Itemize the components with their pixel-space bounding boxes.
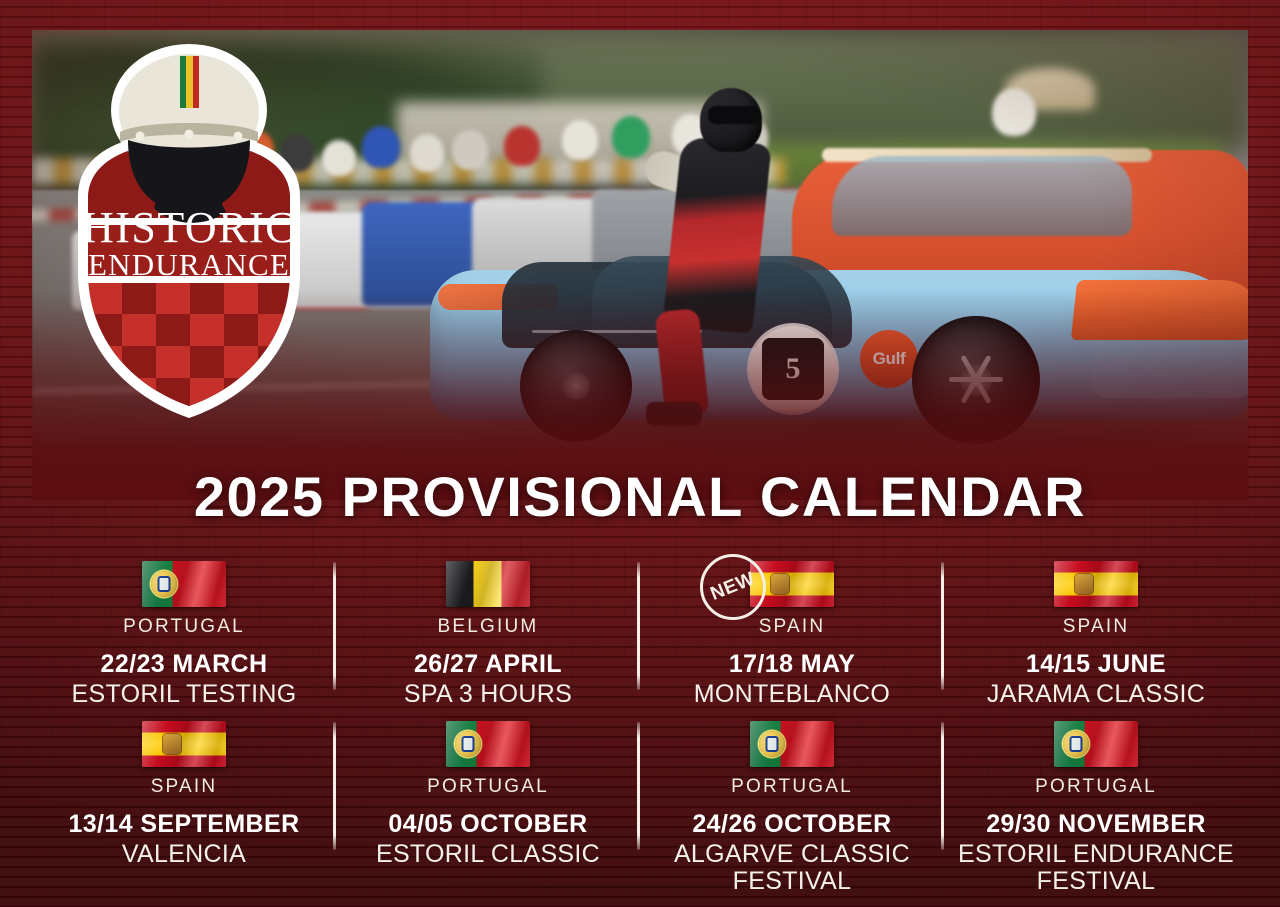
logo-line1: HISTORIC	[82, 203, 296, 252]
calendar-event[interactable]: BELGIUM26/27 APRILSPA 3 HOURS	[336, 548, 640, 708]
flag-wave-shading	[1054, 721, 1138, 767]
flag-wave-shading	[1054, 561, 1138, 607]
flag-wrapper	[336, 558, 640, 610]
event-country: PORTUGAL	[1035, 776, 1157, 798]
event-country: PORTUGAL	[427, 776, 549, 798]
calendar-event[interactable]: PORTUGAL22/23 MARCHESTORIL TESTING	[32, 548, 336, 708]
event-venue: ESTORIL ENDURANCE FESTIVAL	[951, 841, 1241, 895]
flag-wrapper	[944, 558, 1248, 610]
flag-wrapper	[944, 718, 1248, 770]
new-badge: NEW	[700, 554, 766, 620]
calendar-event[interactable]: NEWSPAIN17/18 MAYMONTEBLANCO	[640, 548, 944, 708]
calendar-event[interactable]: PORTUGAL24/26 OCTOBERALGARVE CLASSIC FES…	[640, 708, 944, 895]
event-date: 17/18 MAY	[729, 650, 855, 679]
event-country: BELGIUM	[438, 616, 539, 638]
flag-wrapper	[32, 558, 336, 610]
calendar-event[interactable]: SPAIN14/15 JUNEJARAMA CLASSIC	[944, 548, 1248, 708]
event-venue: ESTORIL TESTING	[72, 681, 297, 708]
flag-pt-icon	[1054, 721, 1138, 767]
event-venue: ESTORIL CLASSIC	[376, 841, 600, 868]
event-country: SPAIN	[1063, 616, 1130, 638]
checkered-pattern	[88, 282, 292, 412]
calendar-grid: PORTUGAL22/23 MARCHESTORIL TESTINGBELGIU…	[32, 548, 1248, 888]
flag-es-icon	[142, 721, 226, 767]
calendar-event[interactable]: PORTUGAL29/30 NOVEMBERESTORIL ENDURANCE …	[944, 708, 1248, 895]
flag-wrapper	[336, 718, 640, 770]
event-date: 04/05 OCTOBER	[388, 810, 587, 839]
flag-wave-shading	[142, 721, 226, 767]
flag-wrapper	[32, 718, 336, 770]
shield-helmet-icon: HISTORIC ENDURANCE	[62, 36, 316, 426]
new-badge-label: NEW	[708, 568, 759, 606]
event-date: 22/23 MARCH	[101, 650, 268, 679]
event-date: 14/15 JUNE	[1026, 650, 1166, 679]
flag-pt-icon	[446, 721, 530, 767]
event-date: 26/27 APRIL	[414, 650, 562, 679]
event-venue: VALENCIA	[122, 841, 246, 868]
event-venue: SPA 3 HOURS	[404, 681, 572, 708]
flag-es-icon	[1054, 561, 1138, 607]
flag-pt-icon	[142, 561, 226, 607]
flag-wave-shading	[446, 721, 530, 767]
event-venue: ALGARVE CLASSIC FESTIVAL	[647, 841, 937, 895]
event-date: 13/14 SEPTEMBER	[68, 810, 299, 839]
calendar-event[interactable]: PORTUGAL04/05 OCTOBERESTORIL CLASSIC	[336, 708, 640, 895]
flag-wave-shading	[446, 561, 530, 607]
event-venue: MONTEBLANCO	[694, 681, 890, 708]
flag-wave-shading	[142, 561, 226, 607]
flag-wrapper	[640, 718, 944, 770]
event-date: 29/30 NOVEMBER	[986, 810, 1206, 839]
historic-endurance-logo: HISTORIC ENDURANCE	[62, 36, 316, 426]
flag-wrapper: NEW	[640, 558, 944, 610]
logo-line2: ENDURANCE	[88, 247, 290, 282]
event-country: SPAIN	[759, 616, 826, 638]
flag-be-icon	[446, 561, 530, 607]
event-date: 24/26 OCTOBER	[692, 810, 891, 839]
page-title: 2025 PROVISIONAL CALENDAR	[0, 464, 1280, 529]
calendar-event[interactable]: SPAIN13/14 SEPTEMBERVALENCIA	[32, 708, 336, 895]
poster-root: 5 Gulf	[0, 0, 1280, 907]
flag-pt-icon	[750, 721, 834, 767]
flag-wave-shading	[750, 721, 834, 767]
event-country: PORTUGAL	[731, 776, 853, 798]
event-venue: JARAMA CLASSIC	[987, 681, 1205, 708]
event-country: PORTUGAL	[123, 616, 245, 638]
event-country: SPAIN	[151, 776, 218, 798]
